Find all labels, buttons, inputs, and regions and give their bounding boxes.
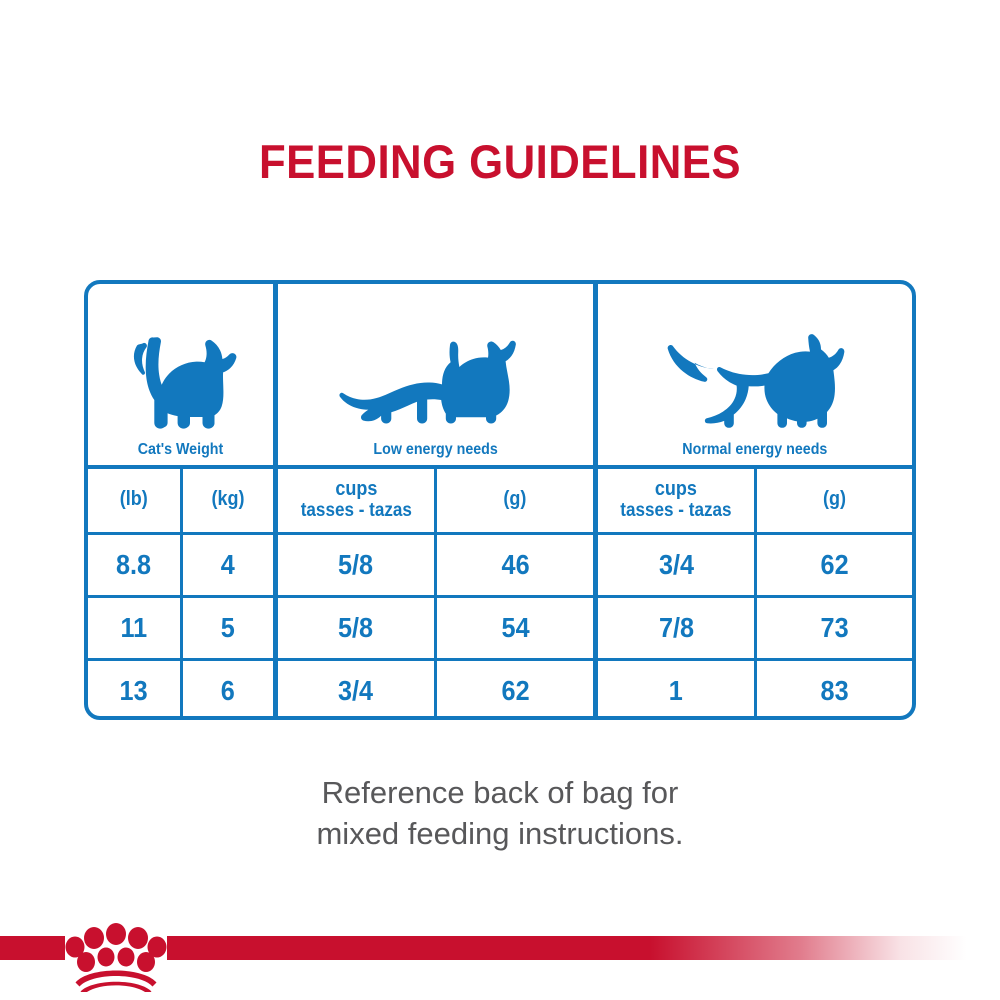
page-title: FEEDING GUIDELINES [35, 134, 965, 189]
sub-header-line1: (g) [504, 488, 527, 510]
brand-bar-left-segment [0, 936, 65, 960]
cat-walking-icon [662, 332, 848, 432]
group-header-label: Normal energy needs [682, 441, 827, 459]
sub-header-line1: (lb) [120, 488, 148, 510]
cell-low-grams: 54 [436, 596, 596, 659]
reference-note-line1: Reference back of bag for [0, 772, 1000, 813]
cell-normal-cups: 3/4 [596, 533, 756, 596]
sub-header-low-grams: (g) [436, 467, 596, 533]
group-header-label: Cat's Weight [138, 441, 224, 459]
sub-header-line1: (g) [823, 488, 846, 510]
group-header-cats-weight: Cat's Weight [88, 284, 275, 467]
table-row: 13 6 3/4 62 1 83 [88, 659, 912, 720]
table-group-header-row: Cat's Weight Low energy needs [88, 284, 912, 467]
table-row: 11 5 5/8 54 7/8 73 [88, 596, 912, 659]
royal-canin-crown-logo [62, 916, 170, 992]
cell-low-cups: 5/8 [275, 533, 436, 596]
sub-header-kg: (kg) [181, 467, 275, 533]
sub-header-normal-cups: cups tasses - tazas [596, 467, 756, 533]
cell-normal-cups: 1 [596, 659, 756, 720]
group-header-normal-energy: Normal energy needs [596, 284, 912, 467]
sub-header-normal-grams: (g) [755, 467, 912, 533]
table-row: 8.8 4 5/8 46 3/4 62 [88, 533, 912, 596]
sub-header-low-cups: cups tasses - tazas [275, 467, 436, 533]
cell-weight-lb: 13 [88, 659, 181, 720]
reference-note: Reference back of bag for mixed feeding … [0, 772, 1000, 854]
sub-header-line1: (kg) [211, 488, 244, 510]
group-header-label: Low energy needs [373, 441, 497, 459]
sub-header-lb: (lb) [88, 467, 181, 533]
sub-header-line1: cups [655, 478, 697, 500]
cell-weight-lb: 11 [88, 596, 181, 659]
cell-normal-grams: 73 [755, 596, 912, 659]
cell-weight-kg: 5 [181, 596, 275, 659]
cell-low-cups: 5/8 [275, 596, 436, 659]
feeding-guidelines-table: Cat's Weight Low energy needs [84, 280, 916, 720]
cell-normal-grams: 62 [755, 533, 912, 596]
cell-weight-kg: 6 [181, 659, 275, 720]
sub-header-line1: cups [335, 478, 377, 500]
table-sub-header-row: (lb) (kg) cups tasses - tazas (g [88, 467, 912, 533]
cell-low-grams: 62 [436, 659, 596, 720]
reference-note-line2: mixed feeding instructions. [0, 813, 1000, 854]
sub-header-line2: tasses - tazas [606, 501, 746, 522]
cell-normal-grams: 83 [755, 659, 912, 720]
cell-normal-cups: 7/8 [596, 596, 756, 659]
cell-weight-kg: 4 [181, 533, 275, 596]
cat-lying-icon [326, 336, 544, 432]
cell-weight-lb: 8.8 [88, 533, 181, 596]
cell-low-grams: 46 [436, 533, 596, 596]
brand-bar-right-segment [167, 936, 1000, 960]
cat-standing-icon [121, 336, 239, 432]
group-header-low-energy: Low energy needs [275, 284, 596, 467]
cell-low-cups: 3/4 [275, 659, 436, 720]
sub-header-line2: tasses - tazas [285, 501, 426, 522]
